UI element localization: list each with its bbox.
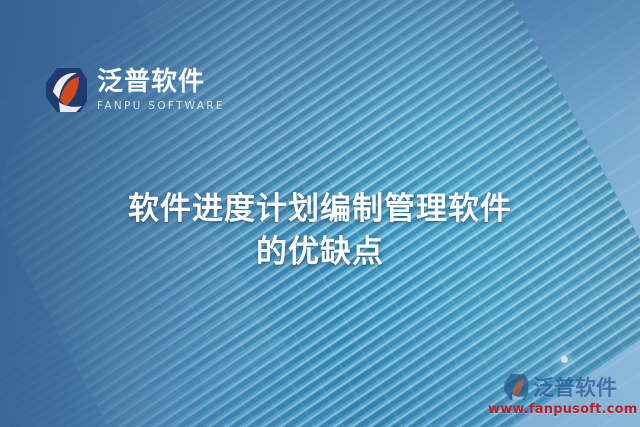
title-line-1: 软件进度计划编制管理软件: [0, 188, 640, 231]
watermark-fanpu-hexagon-sail-icon: [503, 373, 529, 401]
banner-image: 泛普软件 FANPU SOFTWARE 软件进度计划编制管理软件 的优缺点 泛普…: [0, 0, 640, 427]
logo-name-cn: 泛普软件: [97, 69, 225, 95]
title-line-2: 的优缺点: [0, 231, 640, 274]
watermark-url: www.fanpusoft.com: [488, 402, 632, 417]
watermark-name-cn: 泛普软件: [533, 372, 617, 402]
brand-logo: 泛普软件 FANPU SOFTWARE: [44, 66, 225, 114]
watermark: 泛普软件 www.fanpusoft.com: [488, 372, 632, 417]
logo-name-en: FANPU SOFTWARE: [97, 101, 225, 112]
fanpu-hexagon-sail-icon: [44, 66, 88, 114]
page-title: 软件进度计划编制管理软件 的优缺点: [0, 188, 640, 274]
